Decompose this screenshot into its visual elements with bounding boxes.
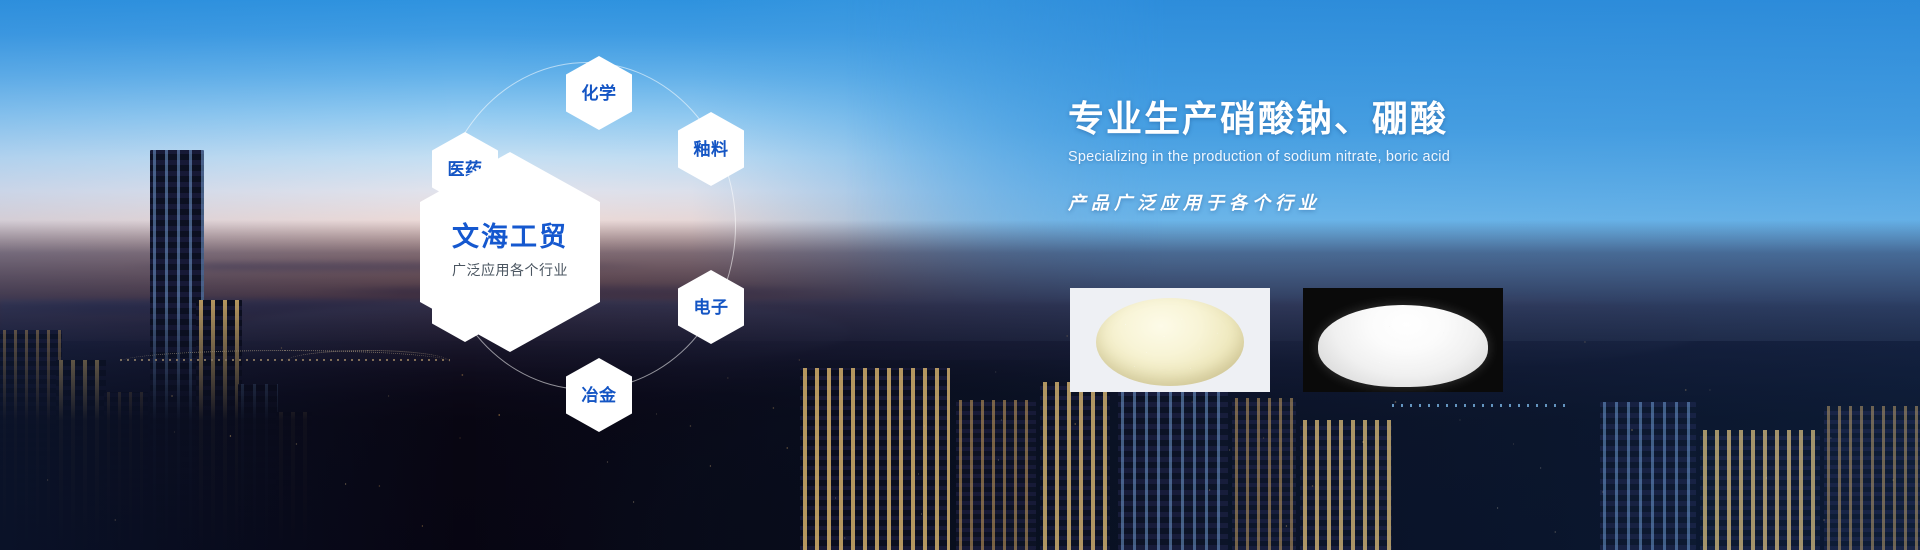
product-photo-sodium-nitrate[interactable] — [1070, 288, 1270, 392]
hex-node-label: 化学 — [582, 85, 617, 102]
banner-background-image — [0, 0, 1920, 550]
powder-pile — [1318, 305, 1488, 387]
banner-copy-block: 专业生产硝酸钠、硼酸 Specializing in the productio… — [1068, 98, 1828, 215]
powder-pile — [1096, 298, 1244, 386]
banner-headline: 专业生产硝酸钠、硼酸 — [1068, 98, 1828, 139]
banner-tagline: 产品广泛应用于各个行业 — [1068, 189, 1828, 215]
hex-node-label: 釉料 — [694, 141, 729, 158]
hex-node-label: 冶金 — [582, 387, 617, 404]
product-photo-boric-acid[interactable] — [1303, 288, 1503, 392]
banner-headline-english: Specializing in the production of sodium… — [1068, 149, 1828, 165]
hex-node-label: 电子 — [694, 299, 729, 316]
company-tagline: 广泛应用各个行业 — [452, 260, 568, 280]
industry-hexagon-diagram: 化学 釉料 医药 电子 玻璃 冶金 文海工贸 广泛应用各个行业 — [420, 20, 820, 440]
promo-banner: 化学 釉料 医药 电子 玻璃 冶金 文海工贸 广泛应用各个行业 专业生产硝酸钠、… — [0, 0, 1920, 550]
product-photo-group — [1070, 288, 1503, 392]
company-name: 文海工贸 — [452, 224, 568, 251]
